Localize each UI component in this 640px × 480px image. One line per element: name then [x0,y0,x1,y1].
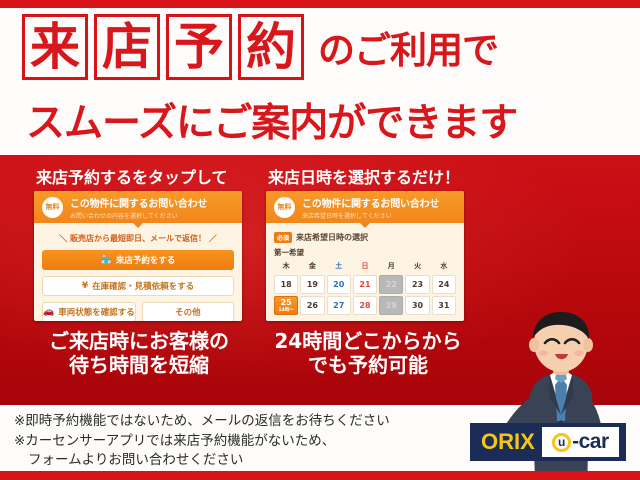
calendar-day-cell[interactable]: 31 [432,296,456,315]
day-number: 31 [438,301,449,310]
feature-panel: 来店予約するをタップして 来店日時を選択するだけ！ 無料 この物件に関するお問い… [0,155,640,405]
footer-note-line-1: ※即時予約機能ではないため、メールの返信をお待ちください [14,412,390,432]
calendar-day-cell[interactable]: 24 [432,275,456,294]
day-number: 19 [307,280,318,289]
footer-disclaimer: ※即時予約機能ではないため、メールの返信をお待ちください ※カーセンサーアプリで… [14,412,390,471]
reserve-visit-button[interactable]: 🏪 来店予約をする [42,250,234,270]
calendar-day-cell[interactable]: 26 [300,296,324,315]
inquiry-form-mockup: 無料 この物件に関するお問い合わせ お問い合わせの内容を選択してください ＼ 販… [34,191,242,321]
weekday-header: 木 [274,261,298,273]
calendar-day-cell[interactable]: 20 [327,275,351,294]
headline-kanji-2: 店 [94,14,160,80]
calendar-header-title: この物件に関するお問い合わせ [302,195,439,210]
headline-kanji-3: 予 [166,14,232,80]
other-button[interactable]: その他 [142,302,234,321]
day-number: 24 [438,280,449,289]
required-badge: 必須 [274,232,292,243]
logo-brand-text: ORIX [477,429,542,455]
logo-u-mark: u [552,433,571,452]
left-caption-line-2: 待ち時間を短縮 [14,353,264,377]
calendar-mockup-header: 無料 この物件に関するお問い合わせ 来店希望日時を選択してください [266,191,464,223]
tertiary-button-row: 🚗 車両状態を確認する その他 [42,302,234,321]
calendar-day-cell-disabled: 22 [379,275,403,294]
calendar-day-cell[interactable]: 18 [274,275,298,294]
preference-label: 第一希望 [274,247,456,258]
calendar-day-cell[interactable]: 19 [300,275,324,294]
mockup-body: ＼ 販売店から最短即日、メールで返信！ ／ 🏪 来店予約をする ¥ 在庫確認・見… [34,223,242,321]
mockup-header-subtitle: お問い合わせの内容を選択してください [70,211,207,220]
day-number: 20 [333,280,344,289]
top-red-rule [0,0,640,8]
bottom-red-rule [0,471,640,480]
yen-icon: ¥ [82,282,88,291]
free-badge: 無料 [274,197,295,218]
logo-ucar-block: u -car [542,427,619,457]
weekday-header: 日 [353,261,377,273]
day-number: 21 [359,280,370,289]
weekday-header: 金 [300,261,324,273]
day-number: 25 [281,298,292,307]
headline-row-1: 来 店 予 約 のご利用で [22,14,498,80]
mockup-header-text: この物件に関するお問い合わせ お問い合わせの内容を選択してください [70,195,207,220]
headline-block: 来 店 予 約 のご利用で スムーズにご案内ができます [0,8,640,155]
day-number: 22 [386,280,397,289]
stock-quote-button-label: 在庫確認・見積依頼をする [92,280,194,292]
calendar-day-cell[interactable]: 30 [405,296,429,315]
calendar-header-subtitle: 来店希望日時を選択してください [302,211,439,220]
left-column-heading: 来店予約するをタップして [36,164,228,188]
day-number: 23 [412,280,423,289]
orix-ucar-logo: ORIX u -car [470,423,626,461]
reserve-visit-button-label: 来店予約をする [116,254,176,266]
free-badge: 無料 [42,197,63,218]
calendar-header-text: この物件に関するお問い合わせ 来店希望日時を選択してください [302,195,439,220]
headline-tail-text: のご利用で [318,20,498,74]
day-number: 18 [281,280,292,289]
calendar-day-cell[interactable]: 21 [353,275,377,294]
calendar-grid: 木 金 土 日 月 火 水 18 19 20 21 22 23 24 25 [274,261,456,315]
vehicle-condition-button[interactable]: 🚗 車両状態を確認する [42,302,136,321]
calendar-mockup: 無料 この物件に関するお問い合わせ 来店希望日時を選択してください 必須 来店希… [266,191,464,321]
day-number: 29 [386,301,397,310]
day-number: 27 [333,301,344,310]
header-notch [132,222,144,228]
other-button-label: その他 [175,306,201,318]
header-notch [359,222,371,228]
day-number: 28 [359,301,370,310]
car-icon: 🚗 [43,308,54,317]
weekday-header: 水 [432,261,456,273]
headline-row-2: スムーズにご案内ができます [26,92,517,148]
calendar-body: 必須 来店希望日時の選択 第一希望 木 金 土 日 月 火 水 18 19 20… [266,223,464,321]
right-caption-line-1: 24時間どこからから [262,329,474,353]
day-number: 26 [307,301,318,310]
calendar-section-label: 来店希望日時の選択 [296,232,368,243]
calendar-day-cell[interactable]: 23 [405,275,429,294]
vehicle-condition-button-label: 車両状態を確認する [58,306,135,318]
day-number: 30 [412,301,423,310]
left-caption-line-1: ご来店時にお客様の [14,329,264,353]
calendar-day-cell-disabled: 29 [379,296,403,315]
reply-lead-note: ＼ 販売店から最短即日、メールで返信！ ／ [42,233,234,244]
headline-kanji-1: 来 [22,14,88,80]
store-icon: 🏪 [101,256,112,265]
weekday-header: 月 [379,261,403,273]
stock-quote-button[interactable]: ¥ 在庫確認・見積依頼をする [42,276,234,296]
weekday-header: 土 [327,261,351,273]
footer-note-line-2: ※カーセンサーアプリでは来店予約機能がないため、 [14,432,390,452]
day-time-label: 14時〜 [279,307,294,313]
left-caption: ご来店時にお客様の 待ち時間を短縮 [14,329,264,378]
mockup-header: 無料 この物件に関するお問い合わせ お問い合わせの内容を選択してください [34,191,242,223]
mockup-header-title: この物件に関するお問い合わせ [70,195,207,210]
promo-banner: 来 店 予 約 のご利用で スムーズにご案内ができます 来店予約するをタップして… [0,0,640,480]
calendar-section-label-row: 必須 来店希望日時の選択 [274,232,456,243]
right-column-heading: 来店日時を選択するだけ！ [268,164,460,188]
footer-note-line-3: フォームよりお問い合わせください [14,451,390,471]
headline-kanji-4: 約 [238,14,304,80]
calendar-day-cell[interactable]: 27 [327,296,351,315]
weekday-header: 火 [405,261,429,273]
logo-product-text: -car [572,430,609,454]
right-caption-line-2: でも予約可能 [262,353,474,377]
calendar-day-cell[interactable]: 28 [353,296,377,315]
calendar-day-cell-selected[interactable]: 25 14時〜 [274,296,298,315]
right-caption: 24時間どこからから でも予約可能 [262,329,474,378]
